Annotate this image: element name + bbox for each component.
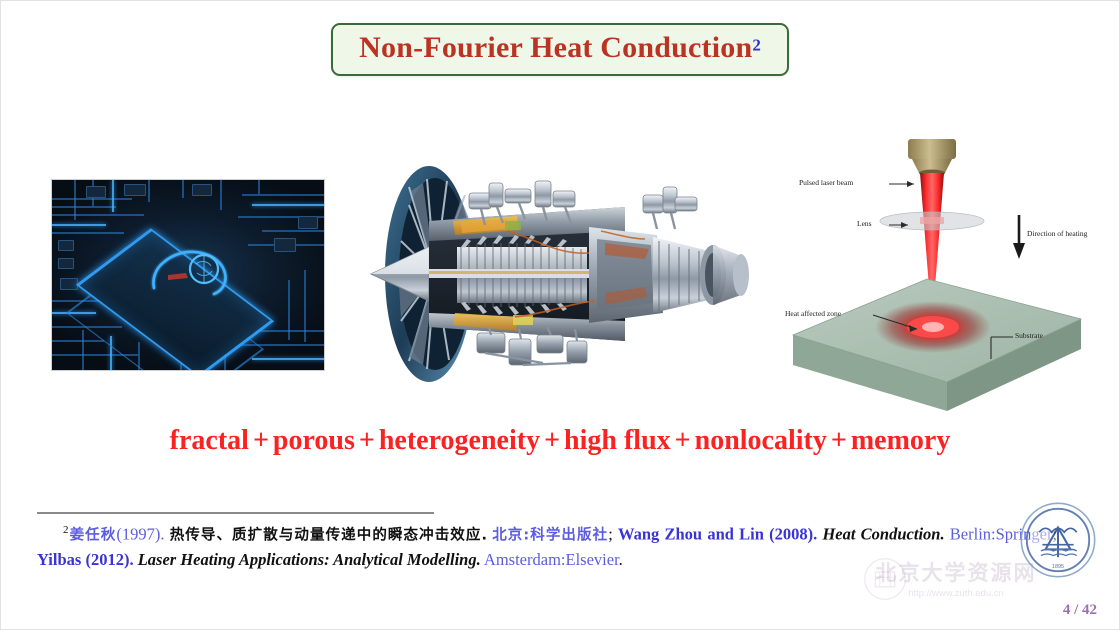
ref3-authors: Yilbas — [37, 550, 81, 569]
label-heat-affected-zone: Heat affected zone — [785, 309, 841, 318]
slide-title-container: Non-Fourier Heat Conduction2 — [1, 23, 1119, 76]
title-box: Non-Fourier Heat Conduction2 — [331, 23, 789, 76]
brain-head-glyph — [148, 242, 234, 300]
footnote-separator-rule — [37, 512, 434, 514]
pulsed-laser-heating-diagram: Pulsed laser beam Lens Heat affected zon… — [777, 139, 1097, 411]
page-title: Non-Fourier Heat Conduction — [359, 31, 752, 64]
keyword-term-heterogeneity: heterogeneity — [379, 425, 540, 456]
ref3-title: Laser Heating Applications: Analytical M… — [138, 550, 481, 569]
ai-chip-circuit-board-photo — [51, 179, 325, 371]
title-footnote-marker: 2 — [752, 36, 761, 55]
ref3-sep: . — [619, 550, 623, 569]
figure-row: Pulsed laser beam Lens Heat affected zon… — [1, 129, 1119, 409]
keyword-term-memory: memory — [851, 425, 951, 456]
keyword-equation-line: fractal+porous+heterogeneity+high flux+n… — [1, 425, 1119, 457]
plus-2: + — [355, 425, 379, 456]
label-lens: Lens — [857, 219, 872, 228]
ref3-year: (2012). — [85, 550, 133, 569]
ref2-authors: Wang Zhou and Lin — [618, 525, 764, 544]
plus-4: + — [671, 425, 695, 456]
page-number: 4 / 42 — [1063, 602, 1097, 619]
svg-text:1895: 1895 — [1052, 564, 1064, 570]
ref2-place: Berlin: — [950, 525, 996, 544]
ref1-sep: ; — [608, 525, 613, 544]
keyword-term-porous: porous — [273, 425, 355, 456]
keyword-term-fractal: fractal — [170, 425, 249, 456]
university-seal-logo: 1895 — [1019, 501, 1097, 579]
ref1-year: (1997). — [116, 525, 164, 544]
ref2-year: (2008). — [769, 525, 817, 544]
label-substrate: Substrate — [1015, 331, 1043, 340]
keyword-term-nonlocality: nonlocality — [695, 425, 827, 456]
ref1-publisher: 科学出版社 — [529, 528, 608, 544]
slide-canvas: Non-Fourier Heat Conduction2 — [0, 0, 1120, 630]
ref1-title: 热传导、质扩散与动量传递中的瞬态冲击效应. — [170, 528, 487, 544]
ref2-title: Heat Conduction. — [822, 525, 944, 544]
plus-5: + — [827, 425, 851, 456]
keyword-term-high-flux: high flux — [564, 425, 671, 456]
label-pulsed-laser-beam: Pulsed laser beam — [799, 178, 853, 187]
watermark-seal-ghost-icon — [863, 557, 907, 601]
ref3-place: Amsterdam: — [484, 550, 566, 569]
ref3-publisher: Elsevier — [566, 550, 619, 569]
plus-1: + — [249, 425, 273, 456]
ref1-place: 北京: — [492, 528, 529, 544]
turbofan-jet-engine-cutaway — [357, 135, 761, 413]
plus-3: + — [540, 425, 564, 456]
ref1-author: 姜任秋 — [69, 528, 117, 544]
label-direction-of-heating: Direction of heating — [1027, 229, 1087, 238]
